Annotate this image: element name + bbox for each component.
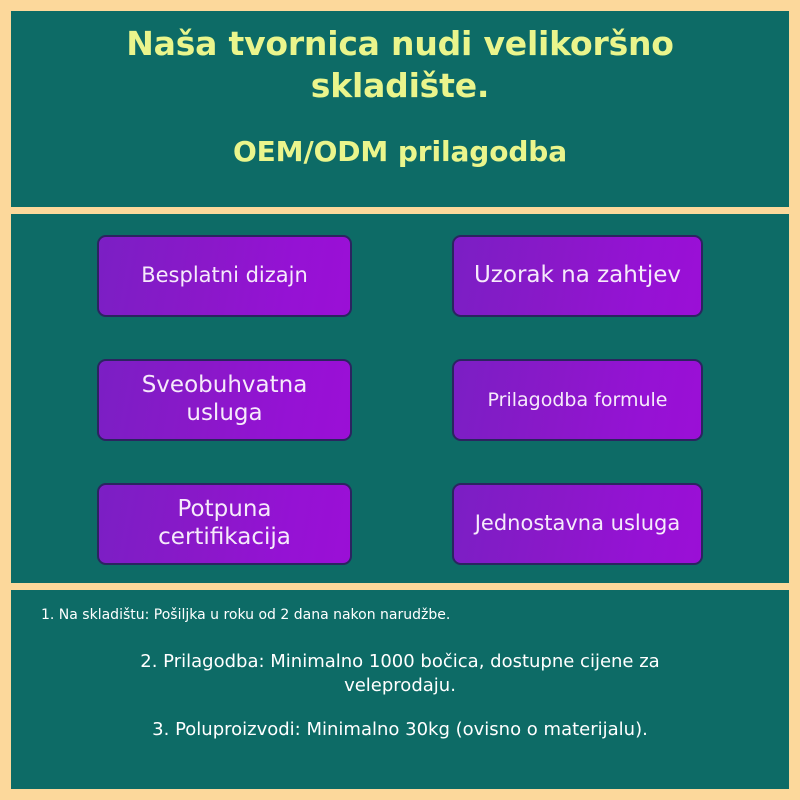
header-panel: Naša tvornica nudi velikoršno skladište.… [11, 11, 789, 207]
feature-panel: Besplatni dizajn Uzorak na zahtjev Sveob… [11, 214, 789, 583]
page-title: Naša tvornica nudi velikoršno skladište. [100, 23, 700, 107]
feature-chip-label: Jednostavna usluga [475, 511, 681, 536]
feature-chip-full-certification[interactable]: Potpuna certifikacija [97, 483, 352, 565]
feature-chip-label: Besplatni dizajn [141, 263, 308, 288]
feature-row: Potpuna certifikacija Jednostavna usluga [97, 483, 703, 565]
poster-root: Naša tvornica nudi velikoršno skladište.… [0, 0, 800, 800]
feature-chip-label: Uzorak na zahtjev [474, 262, 681, 290]
page-subtitle: OEM/ODM prilagodba [233, 135, 567, 168]
feature-chip-free-design[interactable]: Besplatni dizajn [97, 235, 352, 317]
feature-chip-comprehensive-service[interactable]: Sveobuhvatna usluga [97, 359, 352, 441]
feature-row: Sveobuhvatna usluga Prilagodba formule [97, 359, 703, 441]
feature-chip-formula-customization[interactable]: Prilagodba formule [452, 359, 703, 441]
feature-chip-label: Sveobuhvatna usluga [109, 372, 340, 427]
feature-chip-sample-on-request[interactable]: Uzorak na zahtjev [452, 235, 703, 317]
notes-panel: 1. Na skladištu: Pošiljka u roku od 2 da… [11, 590, 789, 789]
note-item-2: 2. Prilagodba: Minimalno 1000 bočica, do… [33, 650, 767, 698]
feature-row: Besplatni dizajn Uzorak na zahtjev [97, 235, 703, 317]
note-item-3: 3. Poluproizvodi: Minimalno 30kg (ovisno… [33, 718, 767, 742]
feature-chip-simple-service[interactable]: Jednostavna usluga [452, 483, 703, 565]
feature-chip-label: Potpuna certifikacija [109, 496, 340, 551]
note-item-1: 1. Na skladištu: Pošiljka u roku od 2 da… [33, 606, 767, 624]
feature-chip-label: Prilagodba formule [488, 389, 668, 412]
